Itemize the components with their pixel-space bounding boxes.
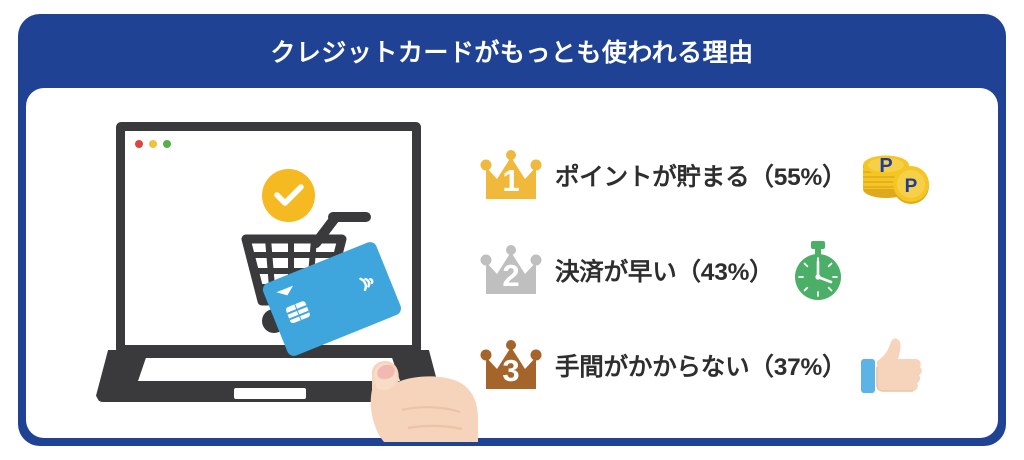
crown-bronze-icon: 3 [480,337,542,395]
card-chip-icon [285,300,311,324]
minimize-dot-icon [149,140,157,148]
svg-text:P: P [905,176,918,197]
crown-rank-number: 3 [480,351,542,391]
contactless-wave-icon [356,270,382,300]
crown-rank-number: 1 [480,161,542,201]
crown-silver-icon: 2 [480,242,542,300]
crown-gold-icon: 1 [480,147,542,205]
ranking-list: 1 ポイントが貯まる（55%） P [480,128,980,413]
page-title: クレジットカードがもっとも使われる理由 [270,33,753,69]
card-brand-icon [276,286,295,299]
close-dot-icon [135,140,143,148]
ranking-item-label: ポイントが貯まる（55%） [555,158,846,193]
thumbs-up-icon [859,335,925,397]
infographic-root: クレジットカードがもっとも使われる理由 [0,0,1024,460]
stopwatch-icon [787,239,849,303]
ranking-item-1: 1 ポイントが貯まる（55%） P [480,128,980,223]
browser-window-dots [135,140,171,148]
ranking-item-3: 3 手間がかからない（37%） [480,318,980,413]
ranking-item-2: 2 決済が早い（43%） [480,223,980,318]
point-coins-icon: P P [859,145,931,207]
title-bar: クレジットカードがもっとも使われる理由 [18,14,1006,88]
ranking-item-label: 決済が早い（43%） [555,253,774,288]
crown-rank-number: 2 [480,256,542,296]
ranking-item-label: 手間がかからない（37%） [555,348,846,383]
laptop-illustration [96,122,441,407]
card-and-hand-group [290,280,450,430]
svg-text:P: P [880,155,893,177]
maximize-dot-icon [163,140,171,148]
hand-holding-card [350,332,478,442]
